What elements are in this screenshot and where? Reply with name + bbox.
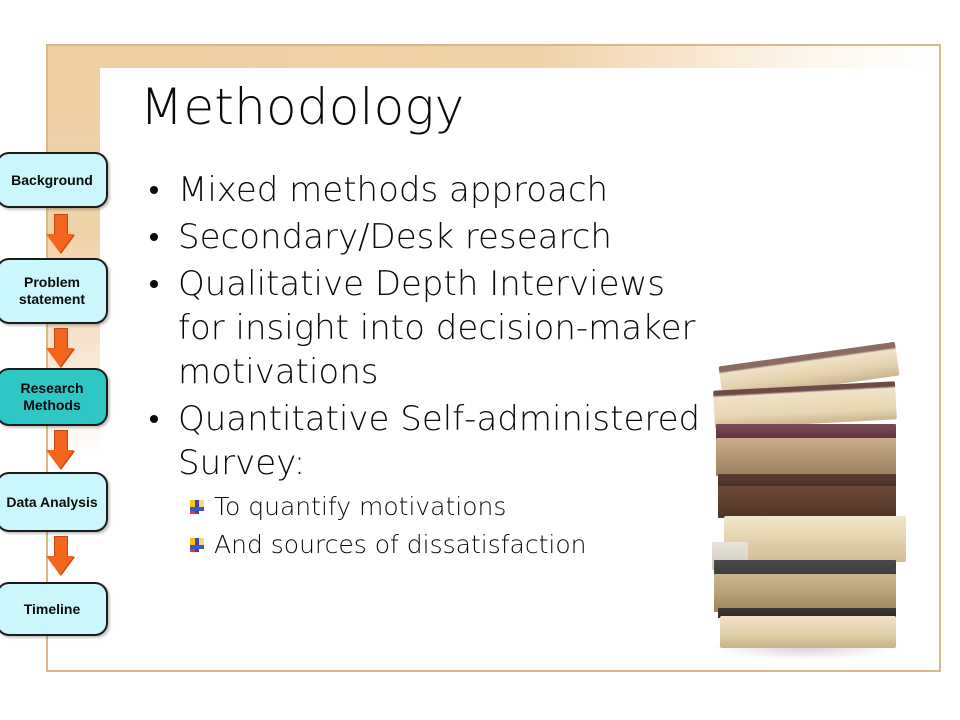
book-layer xyxy=(714,574,896,612)
bullet-item: Qualitative Depth Interviews for insight… xyxy=(142,262,704,394)
presentation-slide: Methodology Mixed methods approach Secon… xyxy=(0,0,960,720)
flow-arrow-down-icon xyxy=(46,430,74,470)
cross-bullet-icon xyxy=(190,500,204,514)
nav-item-background[interactable]: Background xyxy=(0,152,108,208)
nav-item-label: Background xyxy=(11,172,93,189)
bullet-dot-icon xyxy=(150,186,158,194)
bullet-text: Secondary/Desk research xyxy=(178,217,612,257)
flow-arrow-down-icon xyxy=(46,536,74,576)
book-layer xyxy=(720,616,896,648)
navigation-sidebar: Background Problem statement Research Me… xyxy=(0,0,125,720)
nav-item-label: Data Analysis xyxy=(6,494,97,511)
bullet-item: Secondary/Desk research xyxy=(142,215,704,259)
slide-title: Methodology xyxy=(140,78,760,136)
slide-body-list: Mixed methods approach Secondary/Desk re… xyxy=(142,168,704,564)
sub-bullet-text: And sources of dissatisfaction xyxy=(214,530,587,559)
cross-bullet-icon xyxy=(190,538,204,552)
bullet-item: Mixed methods approach xyxy=(142,168,704,212)
bullet-dot-icon xyxy=(150,233,158,241)
nav-item-research-methods[interactable]: Research Methods xyxy=(0,368,108,426)
bullet-text: Mixed methods approach xyxy=(178,170,608,210)
book-layer xyxy=(718,486,896,518)
nav-item-label: Problem statement xyxy=(0,274,106,308)
bullet-dot-icon xyxy=(150,280,158,288)
nav-item-label: Research Methods xyxy=(0,380,106,414)
flow-arrow-down-icon xyxy=(46,214,74,254)
bullet-text: Quantitative Self-administered Survey: xyxy=(178,399,700,483)
stack-of-books-image xyxy=(702,352,907,652)
book-layer xyxy=(724,516,906,562)
bullet-item: Quantitative Self-administered Survey: xyxy=(142,397,704,485)
sub-bullet-item: And sources of dissatisfaction xyxy=(142,526,704,564)
flow-arrow-down-icon xyxy=(46,328,74,368)
sub-bullet-item: To quantify motivations xyxy=(142,488,704,526)
book-layer xyxy=(713,381,897,428)
bullet-text: Qualitative Depth Interviews for insight… xyxy=(178,264,696,392)
nav-item-data-analysis[interactable]: Data Analysis xyxy=(0,472,108,532)
nav-item-timeline[interactable]: Timeline xyxy=(0,582,108,636)
nav-item-problem-statement[interactable]: Problem statement xyxy=(0,258,108,324)
bullet-dot-icon xyxy=(150,415,158,423)
book-layer xyxy=(716,438,896,476)
sub-bullet-text: To quantify motivations xyxy=(214,492,506,521)
nav-item-label: Timeline xyxy=(24,601,81,618)
